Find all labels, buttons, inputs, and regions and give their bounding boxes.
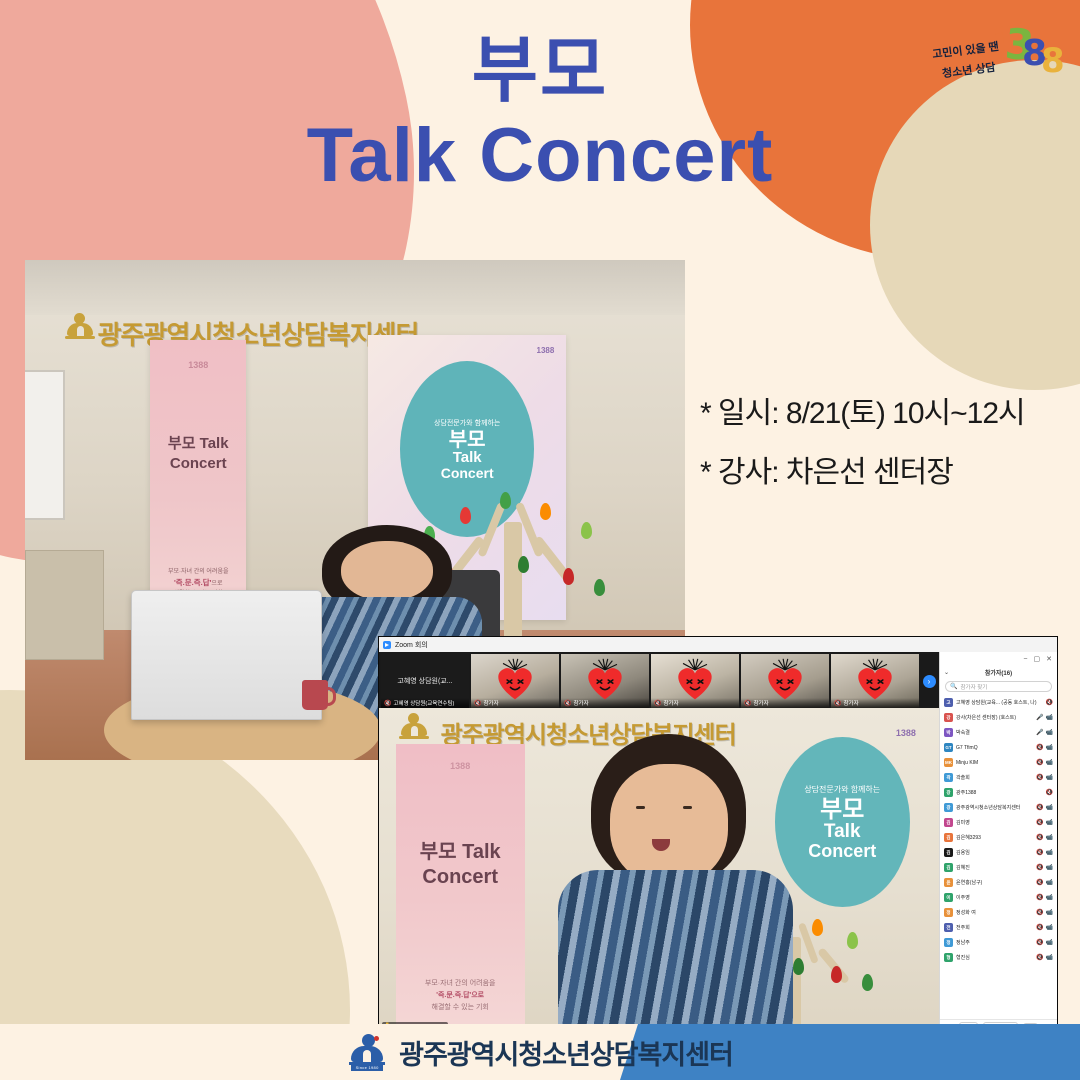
footer: Since 1980 광주광역시청소년상담복지센터	[0, 1024, 1080, 1080]
camera-icon[interactable]: 📹	[1046, 879, 1053, 886]
participant-name: 광주1388	[956, 789, 1043, 796]
participant-status-icons: 🔇📹	[1036, 804, 1053, 811]
mic-muted-icon: 🔇	[654, 700, 661, 707]
participant-status-icons: 🎤📹	[1036, 729, 1053, 736]
mic-muted-icon[interactable]: 🔇	[1036, 759, 1043, 766]
center-logo-icon: Since 1980	[347, 1033, 387, 1071]
maximize-icon[interactable]: ▢	[1034, 655, 1041, 663]
participant-row[interactable]: 광 광주광역시청소년상담복지센터 🔇📹	[940, 800, 1057, 815]
avatar: 김	[944, 848, 953, 857]
poster-logo-1388: 1388	[896, 728, 916, 738]
participant-name: 김은혜3293	[956, 834, 1033, 841]
poster-english-title-1: Talk	[824, 822, 861, 842]
laptop	[131, 590, 322, 720]
banner-sub-line3: 해결할 수 있는 기회	[432, 1004, 489, 1011]
side-cabinet	[25, 550, 104, 660]
active-speaker-figure	[558, 734, 793, 1035]
search-placeholder: 참가자 찾기	[960, 683, 987, 691]
participant-name: 강사(차은선 센터장) (호스트)	[956, 714, 1033, 721]
poster-circle: 상담전문가와 함께하는 부모 Talk Concert	[775, 737, 910, 907]
poster-subtitle: 상담전문가와 함께하는	[804, 784, 880, 795]
poster-english-title-2: Concert	[808, 842, 876, 861]
participant-name: 정남주	[956, 939, 1033, 946]
participant-status-icons: 🔇📹	[1036, 759, 1053, 766]
banner-sub-line1: 부모·자녀 간의 어려움을	[425, 980, 496, 987]
mic-muted-icon[interactable]: 🔇	[1036, 864, 1043, 871]
video-thumbnail[interactable]: 🔇 참가자	[561, 654, 649, 708]
video-thumbnail[interactable]: 🔇 참가자	[831, 654, 919, 708]
participant-row[interactable]: 전 전주희 🔇📹	[940, 920, 1057, 935]
camera-off-icon[interactable]: 📹	[1046, 804, 1053, 811]
mic-muted-icon[interactable]: 🔇	[1036, 819, 1043, 826]
mic-muted-icon[interactable]: 🔇	[1036, 804, 1043, 811]
event-details: * 일시: 8/21(토) 10시~12시 * 강사: 차은선 센터장	[700, 385, 1070, 502]
participant-row[interactable]: 형 형진심 🔇📹	[940, 950, 1057, 965]
participant-row[interactable]: 박 박숙결 🎤📹	[940, 725, 1057, 740]
avatar: 김	[944, 863, 953, 872]
center-emblem-icon	[399, 713, 429, 741]
banner-title: 부모 TalkConcert	[150, 434, 246, 473]
participant-status-icons: 🔇📹	[1036, 819, 1053, 826]
mic-muted-icon: 🔇	[474, 700, 481, 707]
center-emblem-icon	[65, 313, 95, 341]
brand-digit-8b: 8	[1041, 44, 1065, 78]
participants-panel-titlebar: − ▢ ✕	[940, 652, 1057, 666]
participant-name: G7 TfimQ	[956, 745, 1033, 751]
heart-emoji-sticker	[582, 657, 628, 703]
video-thumbnail[interactable]: 🔇 참가자	[651, 654, 739, 708]
mic-muted-icon: 🔇	[744, 700, 751, 707]
camera-icon[interactable]: 📹	[1046, 819, 1053, 826]
participant-row[interactable]: GT G7 TfimQ 🔇📹	[940, 740, 1057, 755]
zoom-window-title: Zoom 회의	[395, 640, 428, 650]
avatar: 곽	[944, 773, 953, 782]
participant-name: 이주영	[956, 894, 1033, 901]
participant-status-icons: 🔇📹	[1036, 774, 1053, 781]
avatar: 박	[944, 728, 953, 737]
room-ceiling	[25, 260, 685, 315]
zoom-stage: 고혜영 상담원(교... 🔇 고혜영 상담원(교육연수팀)	[379, 652, 939, 1035]
logo-since-text: Since 1980	[351, 1065, 383, 1071]
speaker-pink-banner: 1388 부모 Talk Concert 부모·자녀 간의 어려움을 '즉.문.…	[396, 744, 525, 1025]
participant-name: 정성화 여	[956, 909, 1033, 916]
participant-name: 김혜진	[956, 864, 1033, 871]
poster-canvas: 고민이 있을 땐 청소년 상담 1 3 8 8 부모 Talk Concert …	[0, 0, 1080, 1080]
coffee-mug	[302, 680, 328, 710]
zoom-participants-panel[interactable]: − ▢ ✕ ⌄ 참가자(16) 🔍 참가자 찾기 고 고혜영 상담원(교육...…	[939, 652, 1057, 1035]
pink-roll-banner: 1388 부모 TalkConcert 부모·자녀 간의 어려움을'즉.문.즉.…	[150, 340, 246, 625]
poster-logo-1388: 1388	[537, 346, 555, 355]
participant-name: 김용임	[956, 849, 1033, 856]
participant-status-icons: 🔇📹	[1036, 924, 1053, 931]
participant-status-icons: 🔇📹	[1036, 939, 1053, 946]
avatar: 김	[944, 833, 953, 842]
avatar: MK	[944, 758, 953, 767]
participant-row[interactable]: 김 김용임 🔇📹	[940, 845, 1057, 860]
participant-name: 고혜영 상담원(교육... (공동 호스트, 나)	[956, 699, 1043, 706]
zoom-active-speaker-view[interactable]: 광주광역시청소년상담복지센터 1388 부모 Talk Concert 부모·자…	[379, 708, 939, 1035]
avatar: 형	[944, 953, 953, 962]
camera-icon[interactable]: 📹	[1046, 714, 1053, 721]
avatar: 이	[944, 893, 953, 902]
participants-panel-title: 참가자(16)	[985, 668, 1012, 677]
mic-muted-icon[interactable]: 🔇	[1036, 774, 1043, 781]
minimize-icon[interactable]: −	[1023, 656, 1027, 663]
mic-muted-icon[interactable]: 🔇	[1036, 834, 1043, 841]
filmstrip-next-page-button[interactable]: ›	[921, 654, 937, 708]
camera-icon[interactable]: 📹	[1046, 849, 1053, 856]
participant-status-icons: 🔇📹	[1036, 864, 1053, 871]
participant-row[interactable]: 곽 곽솔희 🔇📹	[940, 770, 1057, 785]
participant-status-icons: 🔇📹	[1036, 909, 1053, 916]
search-icon: 🔍	[950, 683, 957, 690]
brand-logo-1388: 고민이 있을 땐 청소년 상담 1 3 8 8	[916, 14, 1066, 96]
camera-off-icon[interactable]: 📹	[1046, 774, 1053, 781]
participant-name: 형진심	[956, 954, 1033, 961]
mic-muted-icon[interactable]: 🔇	[1046, 699, 1053, 706]
heart-emoji-sticker	[852, 657, 898, 703]
video-thumbnail[interactable]: 고혜영 상담원(교... 🔇 고혜영 상담원(교육연수팀)	[381, 654, 469, 708]
participant-name: 전주희	[956, 924, 1033, 931]
avatar: 정	[944, 938, 953, 947]
zoom-app-icon	[383, 641, 391, 649]
zoom-video-filmstrip[interactable]: 고혜영 상담원(교... 🔇 고혜영 상담원(교육연수팀)	[379, 652, 939, 708]
participants-panel-header: ⌄ 참가자(16)	[940, 666, 1057, 679]
video-thumbnail[interactable]: 🔇 참가자	[471, 654, 559, 708]
participant-search-input[interactable]: 🔍 참가자 찾기	[945, 681, 1052, 692]
participant-row[interactable]: 이 이주영 🔇📹	[940, 890, 1057, 905]
participants-list[interactable]: 고 고혜영 상담원(교육... (공동 호스트, 나) 🔇 강 강사(차은선 센…	[940, 695, 1057, 1019]
mic-muted-icon[interactable]: 🔇	[1036, 924, 1043, 931]
participant-name: 곽솔희	[956, 774, 1033, 781]
heart-emoji-sticker	[762, 657, 808, 703]
participant-status-icons: 🔇📹	[1036, 834, 1053, 841]
avatar: 정	[944, 908, 953, 917]
poster-korean-title: 부모	[449, 430, 486, 450]
participant-row[interactable]: 김 김은혜3293 🔇📹	[940, 830, 1057, 845]
event-lecturer: * 강사: 차은선 센터장	[700, 444, 1070, 503]
participant-row[interactable]: 정 정성화 여 🔇📹	[940, 905, 1057, 920]
camera-off-icon[interactable]: 📹	[1046, 894, 1053, 901]
participant-status-icons: 🔇📹	[1036, 744, 1053, 751]
participant-row[interactable]: 정 정남주 🔇📹	[940, 935, 1057, 950]
avatar: 광	[944, 788, 953, 797]
mic-muted-icon[interactable]: 🔇	[1036, 849, 1043, 856]
banner-title-line1: 부모 Talk	[420, 841, 501, 863]
avatar: 윤	[944, 878, 953, 887]
heart-emoji-sticker	[672, 657, 718, 703]
participant-row[interactable]: 김 김미영 🔇📹	[940, 815, 1057, 830]
headline-english: Talk Concert	[0, 112, 1080, 199]
participant-name: 김미영	[956, 819, 1033, 826]
footer-content: Since 1980 광주광역시청소년상담복지센터	[0, 1024, 1080, 1080]
zoom-window-body: 고혜영 상담원(교... 🔇 고혜영 상담원(교육연수팀)	[379, 652, 1057, 1035]
camera-off-icon[interactable]: 📹	[1046, 834, 1053, 841]
participant-status-icons: 🎤📹	[1036, 714, 1053, 721]
avatar: 강	[944, 713, 953, 722]
banner-title: 부모 Talk Concert	[396, 840, 525, 890]
mic-muted-icon: 🔇	[834, 700, 841, 707]
mic-muted-icon[interactable]: 🔇	[1036, 744, 1043, 751]
mic-muted-icon: 🔇	[564, 700, 571, 707]
avatar: 고	[944, 698, 953, 707]
participant-status-icons: 🔇	[1046, 699, 1053, 706]
participant-status-icons: 🔇📹	[1036, 849, 1053, 856]
camera-icon[interactable]: 📹	[1046, 954, 1053, 961]
thumbnail-name-bar: 🔇 고혜영 상담원(교육연수팀)	[381, 698, 469, 708]
camera-icon[interactable]: 📹	[1046, 909, 1053, 916]
participant-status-icons: 🔇📹	[1036, 879, 1053, 886]
poster-subtitle: 상담전문가와 함께하는	[434, 418, 500, 428]
footer-organization-name: 광주광역시청소년상담복지센터	[399, 1033, 733, 1072]
participant-row[interactable]: 윤 윤연홍(남구) 🔇📹	[940, 875, 1057, 890]
avatar: 광	[944, 803, 953, 812]
participant-name: 윤연홍(남구)	[956, 879, 1033, 886]
chevron-right-icon: ›	[923, 675, 936, 688]
heart-emoji-sticker	[492, 657, 538, 703]
banner-subtext: 부모·자녀 간의 어려움을 '즉.문.즉.답'으로 해결할 수 있는 기회	[396, 978, 525, 1014]
avatar: GT	[944, 743, 953, 752]
participant-row[interactable]: 김 김혜진 🔇📹	[940, 860, 1057, 875]
video-thumbnail[interactable]: 🔇 참가자	[741, 654, 829, 708]
close-icon[interactable]: ✕	[1046, 655, 1052, 663]
participant-row[interactable]: 강 강사(차은선 센터장) (호스트) 🎤📹	[940, 710, 1057, 725]
poster-korean-title: 부모	[820, 798, 864, 822]
camera-icon[interactable]: 📹	[1046, 729, 1053, 736]
participant-status-icons: 🔇📹	[1036, 894, 1053, 901]
zoom-meeting-window[interactable]: Zoom 회의 고혜영 상담원(교... 🔇 고혜영 상담원(교육연수팀)	[378, 636, 1058, 1036]
camera-icon[interactable]: 📹	[1046, 744, 1053, 751]
camera-icon[interactable]: 📹	[1046, 939, 1053, 946]
banner-sub-line2: '즉.문.즉.답'으로	[436, 992, 484, 999]
participant-status-icons: 🔇📹	[1036, 954, 1053, 961]
banner-logo-1388: 1388	[450, 761, 470, 771]
mic-icon[interactable]: 🎤	[1036, 714, 1043, 721]
thumbnail-name: 고혜영 상담원(교육연수팀)	[393, 699, 454, 707]
mic-muted-icon[interactable]: 🔇	[1036, 894, 1043, 901]
avatar: 전	[944, 923, 953, 932]
participant-status-icons: 🔇	[1046, 789, 1053, 796]
mic-icon[interactable]: 🎤	[1036, 729, 1043, 736]
mic-muted-icon[interactable]: 🔇	[1036, 939, 1043, 946]
participant-row[interactable]: 광 광주1388 🔇	[940, 785, 1057, 800]
banner-title-line2: Concert	[422, 866, 498, 888]
chevron-down-icon[interactable]: ⌄	[944, 669, 949, 676]
participant-row[interactable]: 고 고혜영 상담원(교육... (공동 호스트, 나) 🔇	[940, 695, 1057, 710]
avatar: 김	[944, 818, 953, 827]
participant-name: 광주광역시청소년상담복지센터	[956, 804, 1033, 811]
banner-logo-1388: 1388	[188, 360, 208, 370]
mic-muted-icon[interactable]: 🔇	[1036, 954, 1043, 961]
mic-muted-icon[interactable]: 🔇	[1036, 909, 1043, 916]
camera-icon[interactable]: 📹	[1046, 864, 1053, 871]
event-datetime: * 일시: 8/21(토) 10시~12시	[700, 385, 1070, 444]
camera-icon[interactable]: 📹	[1046, 759, 1053, 766]
mic-muted-icon[interactable]: 🔇	[1046, 789, 1053, 796]
participant-name: Minju KIM	[956, 760, 1033, 766]
mic-muted-icon[interactable]: 🔇	[1036, 879, 1043, 886]
participant-row[interactable]: MK Minju KIM 🔇📹	[940, 755, 1057, 770]
participant-name: 박숙결	[956, 729, 1033, 736]
mic-muted-icon: 🔇	[384, 700, 391, 707]
zoom-window-titlebar: Zoom 회의	[379, 637, 1057, 652]
poster-english-title-1: Talk	[453, 450, 482, 466]
camera-off-icon[interactable]: 📹	[1046, 924, 1053, 931]
brand-slogan-line2: 청소년 상담	[941, 59, 996, 81]
whiteboard	[25, 370, 65, 520]
